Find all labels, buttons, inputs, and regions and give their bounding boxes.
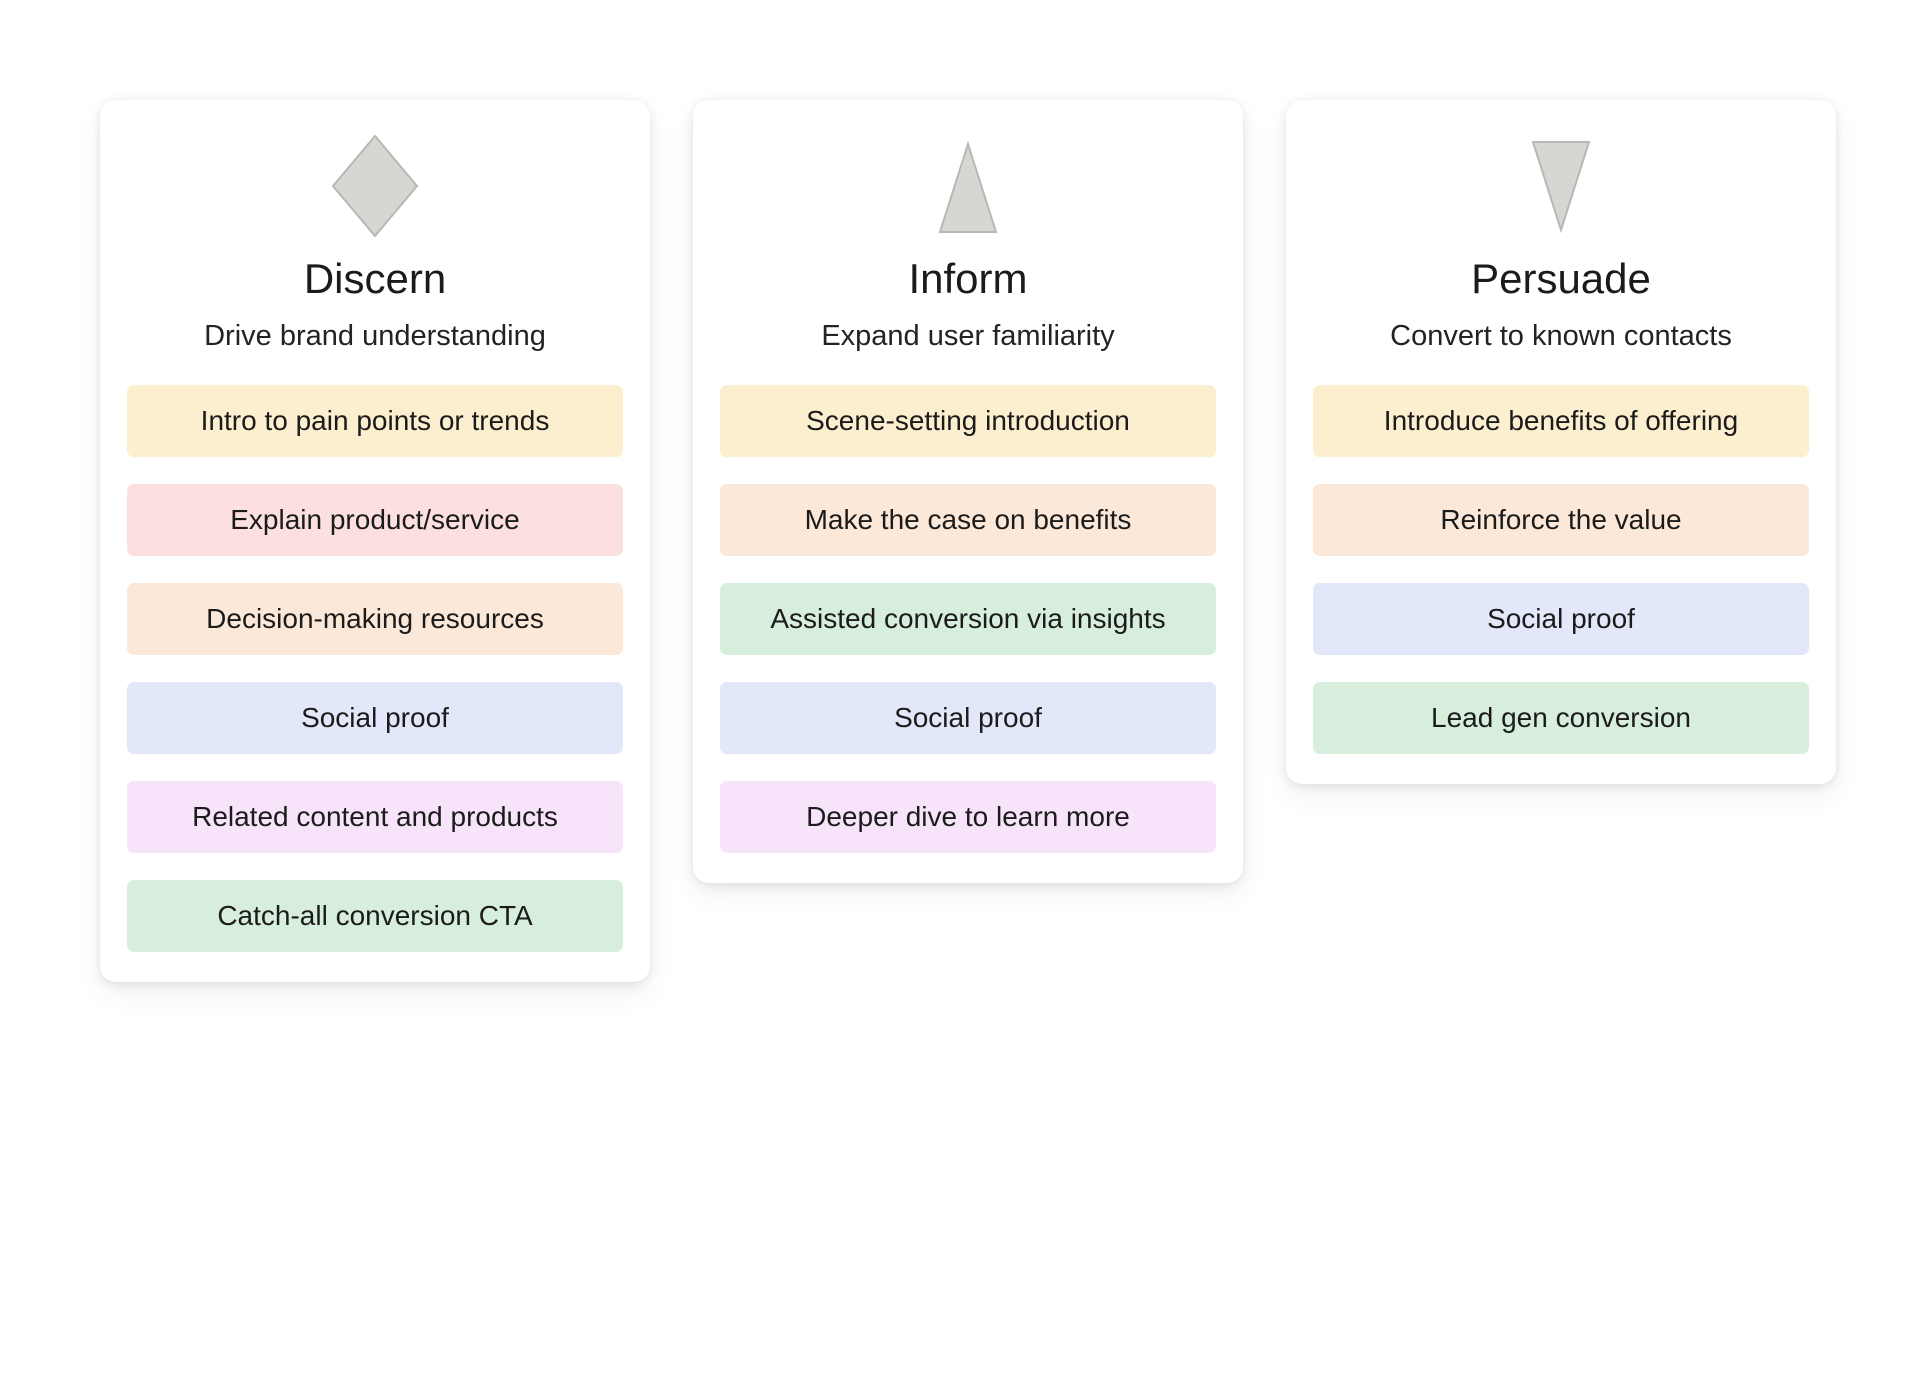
journey-stage-card: InformExpand user familiarityScene-setti… <box>693 100 1243 883</box>
triangle-down-icon <box>1313 132 1809 240</box>
journey-stage-card: DiscernDrive brand understandingIntro to… <box>100 100 650 982</box>
stage-list: Intro to pain points or trendsExplain pr… <box>127 385 623 952</box>
stage-pill[interactable]: Make the case on benefits <box>720 484 1216 556</box>
journey-stage-card-group: DiscernDrive brand understandingIntro to… <box>100 100 1836 982</box>
journey-stage-card: PersuadeConvert to known contactsIntrodu… <box>1286 100 1836 784</box>
stage-pill[interactable]: Social proof <box>127 682 623 754</box>
card-subtitle: Expand user familiarity <box>720 322 1216 351</box>
page-root: DiscernDrive brand understandingIntro to… <box>0 0 1920 1400</box>
triangle-up-icon <box>720 132 1216 240</box>
stage-pill[interactable]: Social proof <box>1313 583 1809 655</box>
stage-pill[interactable]: Scene-setting introduction <box>720 385 1216 457</box>
stage-pill[interactable]: Social proof <box>720 682 1216 754</box>
stage-list: Introduce benefits of offeringReinforce … <box>1313 385 1809 754</box>
stage-pill[interactable]: Deeper dive to learn more <box>720 781 1216 853</box>
card-subtitle: Convert to known contacts <box>1313 322 1809 351</box>
card-title: Persuade <box>1313 258 1809 300</box>
stage-pill[interactable]: Reinforce the value <box>1313 484 1809 556</box>
stage-pill[interactable]: Lead gen conversion <box>1313 682 1809 754</box>
stage-pill[interactable]: Catch-all conversion CTA <box>127 880 623 952</box>
stage-list: Scene-setting introductionMake the case … <box>720 385 1216 853</box>
stage-pill[interactable]: Assisted conversion via insights <box>720 583 1216 655</box>
card-title: Discern <box>127 258 623 300</box>
stage-pill[interactable]: Decision-making resources <box>127 583 623 655</box>
stage-pill[interactable]: Introduce benefits of offering <box>1313 385 1809 457</box>
diamond-icon <box>127 132 623 240</box>
stage-pill[interactable]: Explain product/service <box>127 484 623 556</box>
stage-pill[interactable]: Related content and products <box>127 781 623 853</box>
stage-pill[interactable]: Intro to pain points or trends <box>127 385 623 457</box>
card-title: Inform <box>720 258 1216 300</box>
card-subtitle: Drive brand understanding <box>127 322 623 351</box>
